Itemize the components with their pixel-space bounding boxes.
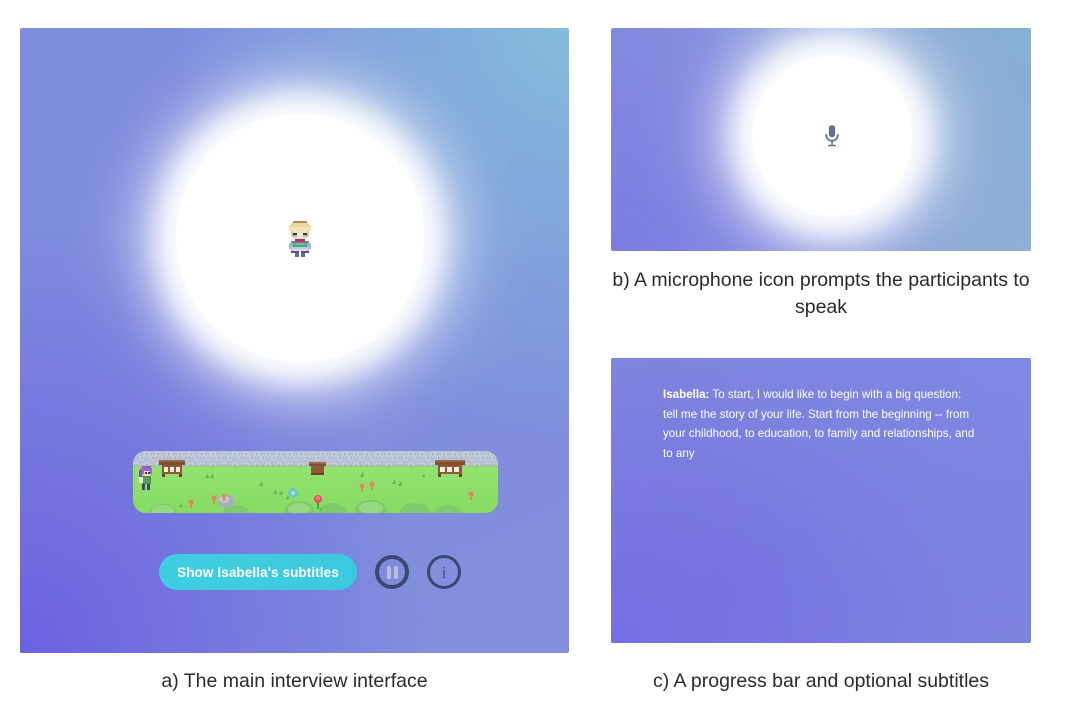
subtitle-text-block: Isabella: To start, I would like to begi… <box>663 385 975 463</box>
panel-a-interview-interface: Show Isabella's subtitles i <box>20 28 569 653</box>
figure-container: Show Isabella's subtitles i b) A microph… <box>0 0 1080 723</box>
caption-panel-c: c) A progress bar and optional subtitles <box>596 668 1046 695</box>
listening-orb <box>752 56 912 216</box>
info-button[interactable]: i <box>427 555 461 589</box>
avatar-sprite <box>285 219 315 257</box>
speaking-orb <box>176 114 424 362</box>
subtitle-speaker: Isabella: <box>663 388 709 401</box>
subtitle-body: To start, I would like to begin with a b… <box>663 388 974 460</box>
caption-panel-a: a) The main interview interface <box>20 668 569 695</box>
toggle-subtitles-button[interactable]: Show Isabella's subtitles <box>159 554 357 590</box>
progress-bar-pixel-scene[interactable] <box>133 451 498 513</box>
panel-b-microphone-prompt <box>611 28 1031 251</box>
pause-button[interactable] <box>375 555 409 589</box>
controls-row-a: Show Isabella's subtitles i <box>159 554 461 590</box>
pause-icon <box>387 566 398 579</box>
caption-panel-b: b) A microphone icon prompts the partici… <box>601 267 1041 321</box>
microphone-icon <box>824 125 841 148</box>
info-icon: i <box>442 564 447 581</box>
